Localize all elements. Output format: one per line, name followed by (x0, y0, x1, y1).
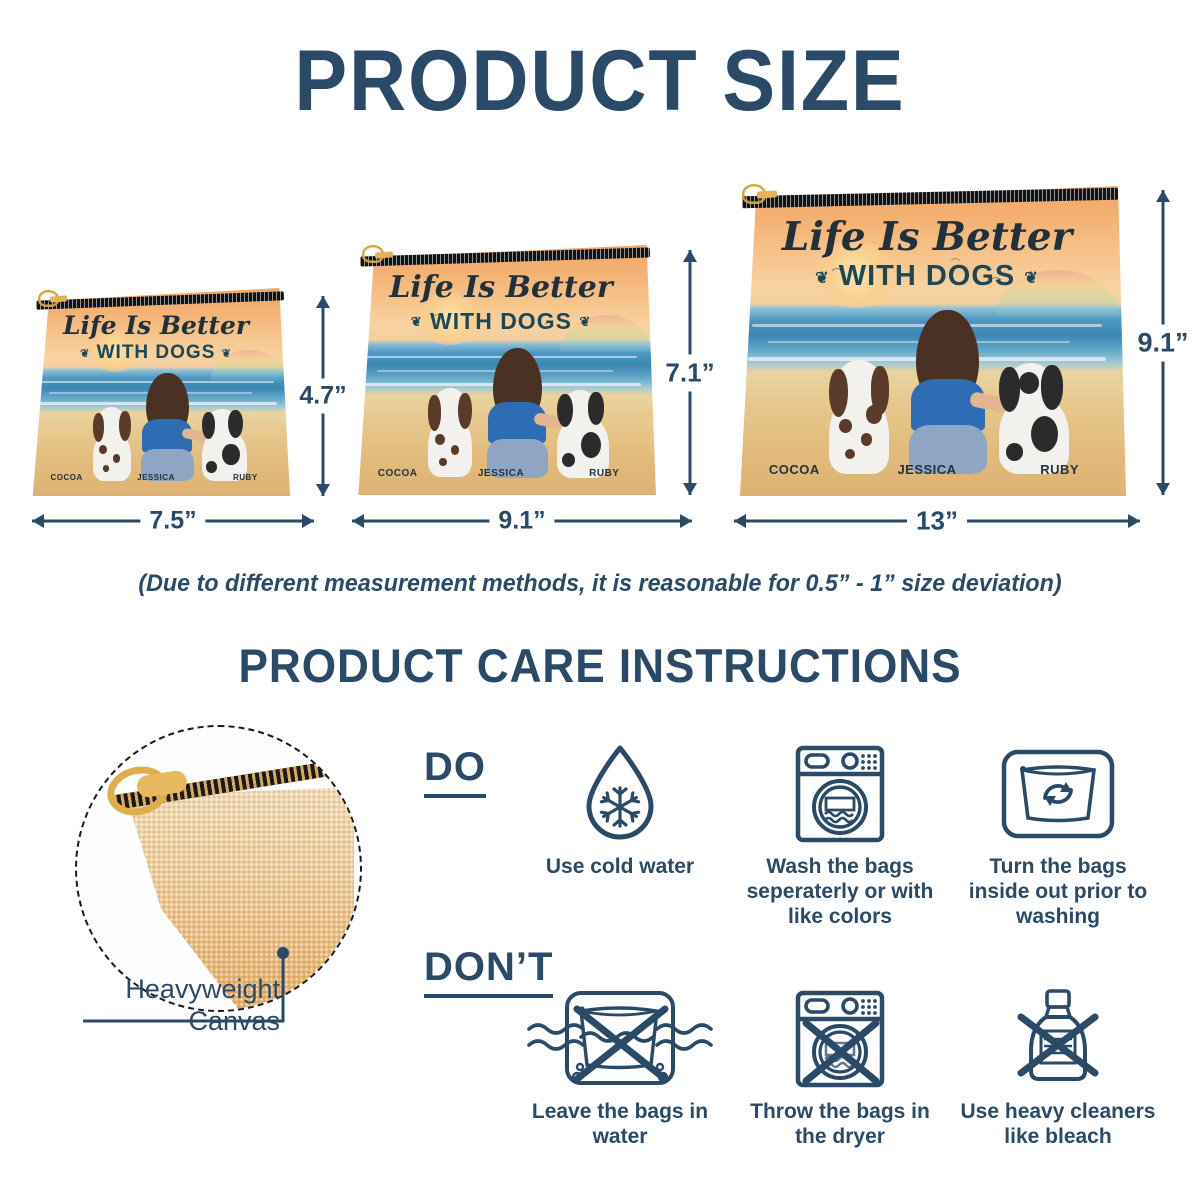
pet-name: JESSICA (111, 473, 200, 482)
pet-name: RUBY (993, 462, 1126, 477)
figure-dog-left (89, 407, 135, 482)
bag-turn-inside-out-icon (958, 740, 1158, 848)
dimension-height-small: 4.7” (300, 296, 346, 496)
dimension-label: 7.1” (660, 354, 719, 391)
figure-dog-right (995, 363, 1075, 475)
dimension-width-large: 13” (734, 508, 1140, 534)
care-dont-item-2: Use heavy cleaners like bleach (958, 985, 1158, 1149)
zipper-tab (375, 251, 393, 258)
care-dont-item-0: Leave the bags in water (520, 985, 720, 1149)
pet-name: JESSICA (449, 468, 552, 479)
dimension-label: 13” (907, 504, 967, 539)
washing-machine-icon (740, 740, 940, 848)
pet-name: JESSICA (861, 462, 994, 477)
design-text-line2: ❦ WITH DOGS ❦ (728, 260, 1126, 293)
product-image-small: ︵ ︵ Life Is Better ❦ WITH DOGS ❦ (22, 288, 290, 496)
do-heading: DO (424, 745, 486, 798)
dimension-label: 9.1” (489, 505, 554, 538)
paw-print-icon: ❦ (815, 268, 829, 288)
care-section-title: PRODUCT CARE INSTRUCTIONS (36, 640, 1164, 692)
dryer-crossed-icon (740, 985, 940, 1093)
page-title: PRODUCT SIZE (48, 38, 1152, 124)
pet-name: COCOA (22, 473, 111, 482)
care-do-text-2: Turn the bags inside out prior to washin… (958, 854, 1158, 929)
pet-names-row: COCOA JESSICA RUBY (346, 468, 656, 479)
dimension-label: 9.1” (1132, 324, 1193, 361)
paw-print-icon: ❦ (411, 314, 423, 330)
paw-print-icon: ❦ (1024, 268, 1038, 288)
material-label-line1: Heavyweight (65, 973, 280, 1005)
pet-name: COCOA (346, 468, 449, 479)
care-dont-text-2: Use heavy cleaners like bleach (958, 1099, 1158, 1149)
figure-dog-left (424, 388, 477, 478)
bleach-bottle-crossed-icon (958, 985, 1158, 1093)
care-do-item-1: Wash the bags seperaterly or with like c… (740, 740, 940, 929)
care-do-text-1: Wash the bags seperaterly or with like c… (740, 854, 940, 929)
dimension-label: 7.5” (140, 505, 205, 538)
design-text-line1: Life Is Better (22, 311, 290, 340)
care-dont-text-0: Leave the bags in water (520, 1099, 720, 1149)
care-dont-text-1: Throw the bags in the dryer (740, 1099, 940, 1149)
product-image-large: ︵ ︵ ︵ Life Is Better ❦ WITH DOGS ❦ (728, 186, 1126, 496)
material-label: Heavyweight Canvas (65, 973, 280, 1037)
pet-names-row: COCOA JESSICA RUBY (728, 462, 1126, 477)
design-text-line2: ❦ WITH DOGS ❦ (346, 308, 656, 335)
bag-in-water-crossed-icon (520, 985, 720, 1093)
pet-name: COCOA (728, 462, 861, 477)
care-do-item-0: Use cold water (520, 740, 720, 879)
material-label-line2: Canvas (65, 1005, 280, 1037)
dimension-height-large: 9.1” (1138, 190, 1188, 495)
size-deviation-note: (Due to different measurement methods, i… (18, 570, 1182, 598)
dimension-width-small: 7.5” (32, 508, 314, 534)
figure-person (899, 310, 995, 474)
care-dont-item-1: Throw the bags in the dryer (740, 985, 940, 1149)
figure-person (135, 373, 199, 481)
zipper-tab (50, 295, 67, 302)
pet-name: RUBY (553, 468, 656, 479)
figure-dog-left (824, 360, 896, 475)
dimension-height-medium: 7.1” (666, 250, 714, 495)
dimension-label: 4.7” (294, 379, 351, 414)
dimension-width-medium: 9.1” (352, 508, 692, 534)
design-text-line1: Life Is Better (346, 270, 656, 305)
paw-print-icon: ❦ (579, 314, 591, 330)
canvas-detail-callout: Heavyweight Canvas (75, 725, 360, 1010)
pet-name: RUBY (201, 473, 290, 482)
care-do-item-2: Turn the bags inside out prior to washin… (958, 740, 1158, 929)
design-text-line1: Life Is Better (728, 214, 1126, 260)
figure-dog-right (199, 409, 250, 482)
care-do-text-0: Use cold water (520, 854, 720, 879)
figure-person (479, 348, 553, 478)
paw-print-icon: ❦ (80, 347, 90, 360)
product-image-medium: ︵ ︵ Life Is Better ❦ WITH DOGS ❦ (346, 245, 656, 495)
paw-print-icon: ❦ (222, 347, 232, 360)
water-drop-snowflake-icon (520, 740, 720, 848)
figure-dog-right (554, 390, 613, 478)
zipper-tab (757, 190, 777, 198)
pet-names-row: COCOA JESSICA RUBY (22, 473, 290, 482)
design-text-line2: ❦ WITH DOGS ❦ (22, 342, 290, 364)
